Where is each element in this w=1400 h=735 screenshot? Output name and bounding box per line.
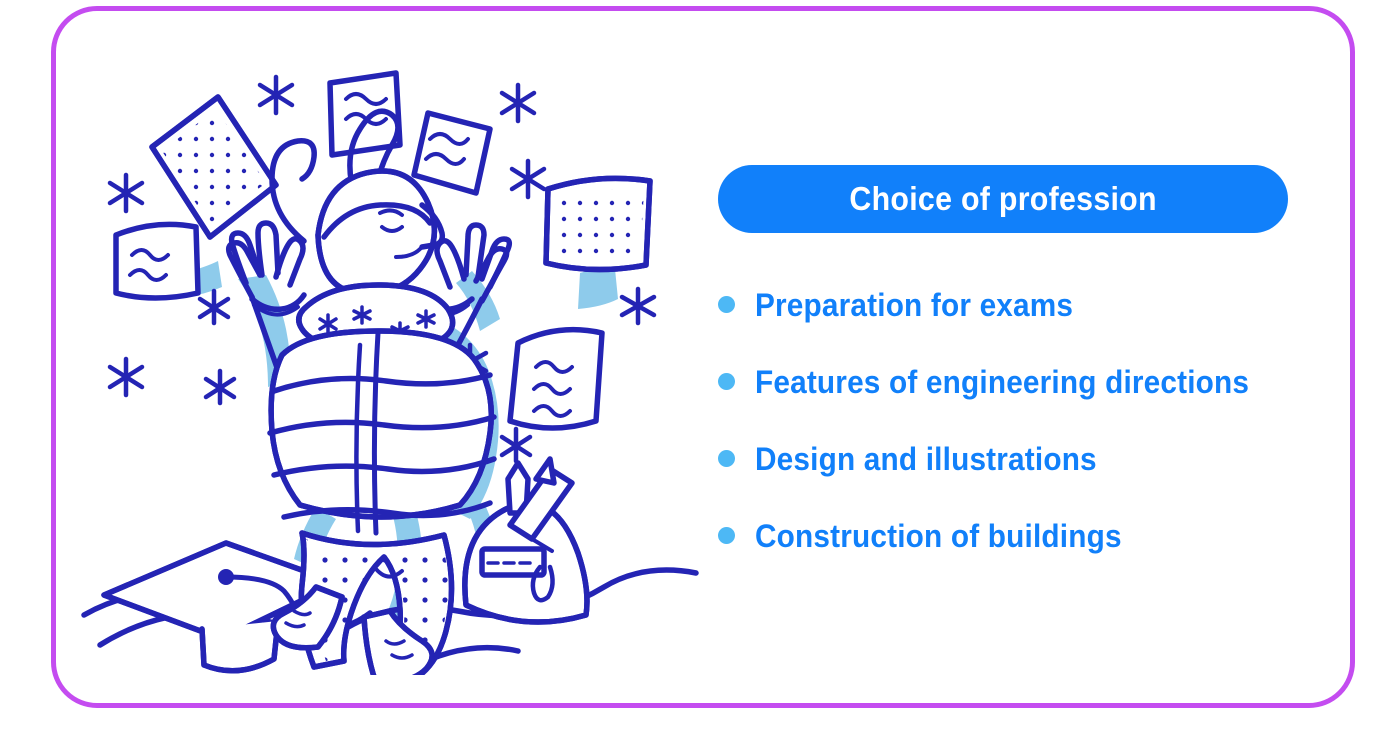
list-item: Preparation for exams <box>718 280 1358 329</box>
flying-paper-dotted <box>152 97 276 237</box>
sparkle <box>502 85 534 121</box>
flying-paper-lined <box>414 113 490 193</box>
list-item-label: Design and illustrations <box>755 442 1097 476</box>
page-title: Choice of profession <box>849 180 1156 218</box>
title-pill: Choice of profession <box>718 165 1288 233</box>
list-item-label: Features of engineering directions <box>755 365 1249 399</box>
puffy-jacket <box>270 331 494 533</box>
bullet-dot-icon <box>718 527 735 544</box>
list-item: Design and illustrations <box>718 434 1358 483</box>
bullet-dot-icon <box>718 450 735 467</box>
sparkle <box>622 289 654 323</box>
bullet-dot-icon <box>718 373 735 390</box>
content-column: Choice of profession Preparation for exa… <box>718 165 1358 595</box>
list-item-label: Preparation for exams <box>755 288 1073 322</box>
sparkle <box>200 291 228 323</box>
bullet-dot-icon <box>718 296 735 313</box>
sparkle <box>512 161 544 197</box>
sparkle <box>206 371 234 403</box>
bullet-list: Preparation for exams Features of engine… <box>718 280 1358 560</box>
sparkle <box>110 359 142 395</box>
list-item-label: Construction of buildings <box>755 519 1122 553</box>
sparkle <box>260 77 292 113</box>
flying-paper-lined <box>510 330 602 428</box>
list-item: Construction of buildings <box>718 511 1358 560</box>
slide-root: Choice of profession Preparation for exa… <box>0 0 1400 735</box>
sparkle <box>502 429 530 461</box>
head <box>318 171 442 294</box>
flying-paper-dotted <box>546 178 650 269</box>
illustration-jumping-graduate <box>80 55 700 675</box>
list-item: Features of engineering directions <box>718 357 1358 406</box>
flying-paper-lined <box>116 224 198 298</box>
sparkle <box>110 175 142 211</box>
